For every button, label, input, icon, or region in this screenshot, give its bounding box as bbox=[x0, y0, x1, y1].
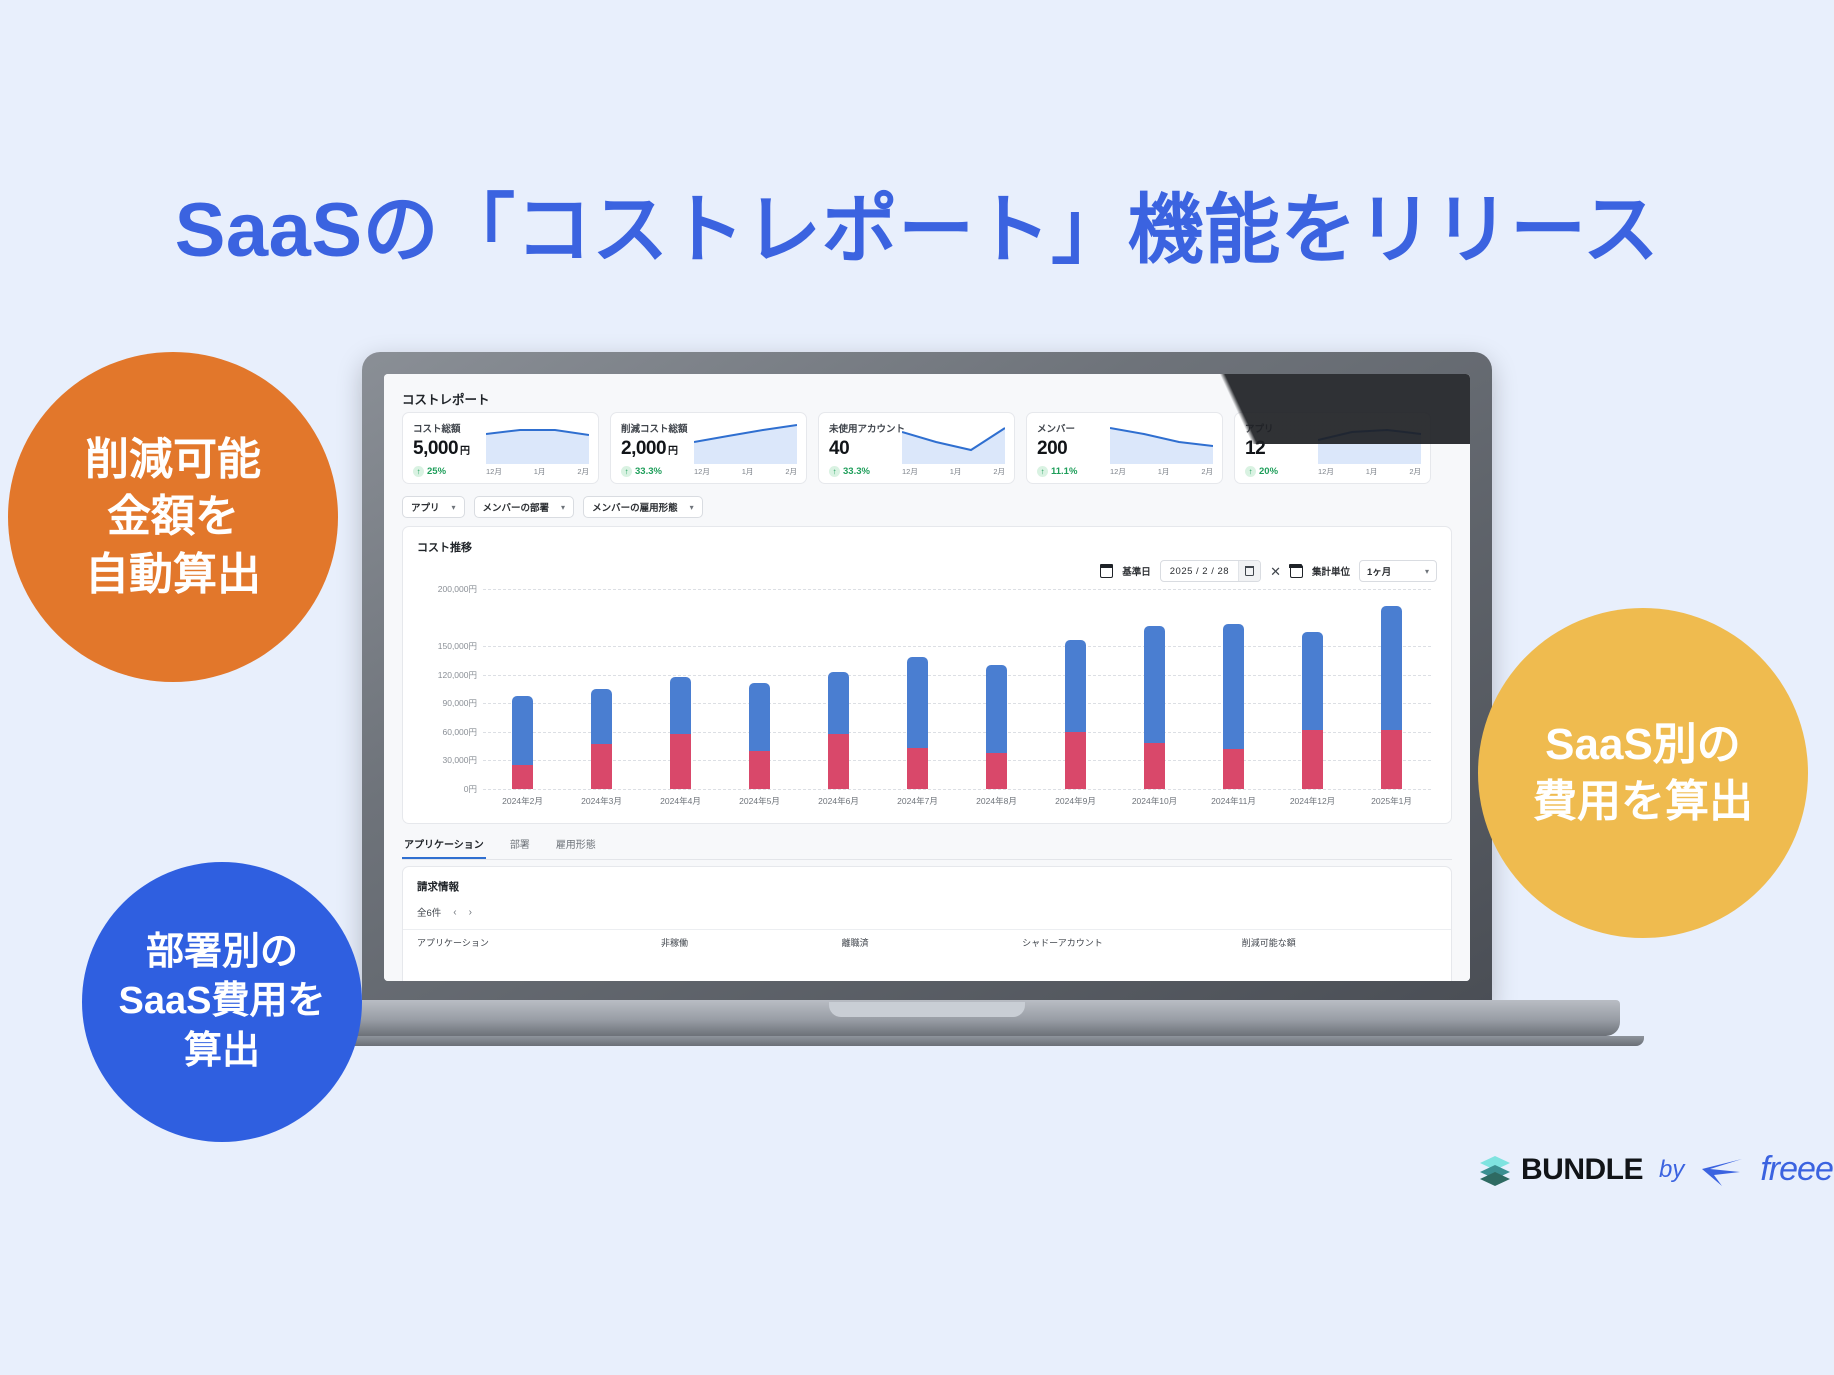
bundle-logo: BUNDLE bbox=[1478, 1153, 1643, 1187]
x-axis-tick-label: 2024年7月 bbox=[897, 795, 938, 807]
logo-by-text: by bbox=[1659, 1156, 1684, 1184]
bar-column[interactable]: 2024年8月 bbox=[957, 589, 1036, 789]
bar-segment-reducible bbox=[907, 748, 928, 789]
month-label: 1月 bbox=[950, 466, 962, 477]
y-axis-tick-label: 150,000円 bbox=[417, 640, 477, 652]
bar-column[interactable]: 2024年7月 bbox=[878, 589, 957, 789]
base-date-input[interactable]: 2025 / 2 / 28 bbox=[1160, 560, 1261, 582]
kpi-card[interactable]: アプリ 12 12月 1月 2月 bbox=[1234, 412, 1431, 484]
bar-column[interactable]: 2024年6月 bbox=[799, 589, 878, 789]
stacked-bar[interactable] bbox=[1144, 626, 1165, 789]
filter-label: アプリ bbox=[411, 500, 440, 514]
table-header-cell: シャドーアカウント bbox=[1022, 936, 1242, 949]
calendar-icon bbox=[1100, 565, 1113, 578]
month-label: 1月 bbox=[1366, 466, 1378, 477]
filter-row: アプリ ▾ メンバーの部署 ▾ メンバーの雇用形態 ▾ bbox=[402, 496, 703, 518]
base-date-value: 2025 / 2 / 28 bbox=[1161, 566, 1238, 577]
kpi-card-row: コスト総額 5,000円 12月 1月 2月 bbox=[402, 412, 1431, 484]
bar-segment-cost bbox=[1065, 640, 1086, 731]
month-label: 2月 bbox=[785, 466, 797, 477]
page-title: SaaSの「コストレポート」機能をリリース bbox=[0, 168, 1834, 278]
brand-logo-row: BUNDLE by freee bbox=[1478, 1150, 1833, 1189]
prev-page-button[interactable]: ‹ bbox=[453, 907, 456, 918]
calendar-icon bbox=[1290, 565, 1303, 578]
app-page-title: コストレポート bbox=[402, 389, 490, 408]
cost-trend-chart: 0円30,000円60,000円90,000円120,000円150,000円2… bbox=[417, 589, 1437, 811]
sparkline-chart bbox=[486, 422, 589, 464]
kpi-delta-group: ↑ 20% bbox=[1245, 466, 1278, 477]
callout-cost-reduction: 削減可能 金額を 自動算出 bbox=[8, 352, 338, 682]
kpi-delta: 11.1% bbox=[1051, 466, 1077, 477]
clear-date-button[interactable]: ✕ bbox=[1270, 565, 1281, 578]
bar-column[interactable]: 2025年1月 bbox=[1352, 589, 1431, 789]
laptop-screen: コストレポート コスト総額 5,000円 12月 bbox=[384, 374, 1470, 981]
table-header-row: アプリケーション 非稼働 離職済 シャドーアカウント 削減可能な額 bbox=[403, 929, 1451, 955]
bar-series-container: 2024年2月2024年3月2024年4月2024年5月2024年6月2024年… bbox=[483, 589, 1431, 789]
callout-line: SaaS別の bbox=[1545, 716, 1741, 773]
month-label: 12月 bbox=[902, 466, 918, 477]
chevron-down-icon: ▾ bbox=[1425, 567, 1429, 576]
aggregation-unit-label: 集計単位 bbox=[1312, 564, 1350, 578]
sparkline-month-labels: 12月 1月 2月 bbox=[486, 466, 589, 477]
slide-root: SaaSの「コストレポート」機能をリリース 削減可能 金額を 自動算出 コストレ… bbox=[0, 0, 1834, 1375]
calendar-small-icon bbox=[1245, 566, 1254, 576]
y-axis-tick-label: 60,000円 bbox=[417, 726, 477, 738]
x-axis-tick-label: 2024年10月 bbox=[1132, 795, 1177, 807]
stacked-bar[interactable] bbox=[1302, 632, 1323, 789]
table-header-cell: 離職済 bbox=[842, 936, 1023, 949]
callout-line: 自動算出 bbox=[85, 546, 261, 603]
bar-segment-cost bbox=[907, 657, 928, 748]
sparkline-month-labels: 12月 1月 2月 bbox=[694, 466, 797, 477]
bar-segment-cost bbox=[986, 665, 1007, 753]
aggregation-unit-select[interactable]: 1ヶ月 ▾ bbox=[1359, 560, 1437, 582]
kpi-delta: 20% bbox=[1259, 466, 1278, 477]
callout-line: 部署別の bbox=[146, 928, 298, 977]
kpi-delta-group: ↑ 11.1% bbox=[1037, 466, 1077, 477]
kpi-delta-group: ↑ 25% bbox=[413, 466, 446, 477]
chevron-down-icon: ▾ bbox=[690, 503, 694, 512]
sparkline-chart bbox=[1110, 422, 1213, 464]
chevron-down-icon: ▾ bbox=[561, 503, 565, 512]
bar-segment-cost bbox=[591, 689, 612, 744]
bar-segment-cost bbox=[1144, 626, 1165, 744]
x-axis-tick-label: 2025年1月 bbox=[1371, 795, 1412, 807]
callout-line: 費用を算出 bbox=[1533, 773, 1753, 830]
filter-label: メンバーの雇用形態 bbox=[592, 500, 678, 514]
filter-department-dropdown[interactable]: メンバーの部署 ▾ bbox=[474, 496, 575, 518]
month-label: 12月 bbox=[694, 466, 710, 477]
tab-department[interactable]: 部署 bbox=[508, 836, 532, 859]
kpi-unit: 円 bbox=[668, 446, 678, 457]
bar-segment-reducible bbox=[1223, 749, 1244, 789]
month-label: 12月 bbox=[486, 466, 502, 477]
callout-per-saas-cost: SaaS別の 費用を算出 bbox=[1478, 608, 1808, 938]
bundle-stack-icon bbox=[1478, 1153, 1512, 1187]
bar-column[interactable]: 2024年5月 bbox=[720, 589, 799, 789]
bar-segment-cost bbox=[1381, 606, 1402, 730]
arrow-up-icon: ↑ bbox=[1037, 466, 1048, 477]
detail-tabs: アプリケーション 部署 雇用形態 bbox=[402, 836, 1452, 860]
y-axis-tick-label: 30,000円 bbox=[417, 754, 477, 766]
chart-controls: 基準日 2025 / 2 / 28 ✕ 集計単位 1ヶ月 ▾ bbox=[1100, 560, 1437, 582]
bar-column[interactable]: 2024年9月 bbox=[1036, 589, 1115, 789]
callout-department-cost: 部署別の SaaS費用を 算出 bbox=[82, 862, 362, 1142]
month-label: 2月 bbox=[1409, 466, 1421, 477]
month-label: 1月 bbox=[742, 466, 754, 477]
stacked-bar[interactable] bbox=[1065, 640, 1086, 789]
bar-column[interactable]: 2024年10月 bbox=[1115, 589, 1194, 789]
cost-trend-panel: コスト推移 基準日 2025 / 2 / 28 ✕ 集計単位 bbox=[402, 526, 1452, 824]
y-axis-tick-label: 120,000円 bbox=[417, 669, 477, 681]
sparkline-month-labels: 12月 1月 2月 bbox=[1110, 466, 1213, 477]
bar-column[interactable]: 2024年12月 bbox=[1273, 589, 1352, 789]
month-label: 2月 bbox=[993, 466, 1005, 477]
x-axis-tick-label: 2024年4月 bbox=[660, 795, 701, 807]
y-axis-tick-label: 0円 bbox=[417, 783, 477, 795]
tab-application[interactable]: アプリケーション bbox=[402, 836, 486, 859]
bar-segment-reducible bbox=[591, 744, 612, 789]
table-count-label: 全6件 bbox=[417, 905, 441, 919]
bar-segment-reducible bbox=[749, 751, 770, 789]
bar-column[interactable]: 2024年2月 bbox=[483, 589, 562, 789]
freee-wordmark: freee bbox=[1760, 1150, 1833, 1189]
x-axis-tick-label: 2024年6月 bbox=[818, 795, 859, 807]
freee-bird-icon bbox=[1700, 1152, 1744, 1188]
stacked-bar[interactable] bbox=[670, 677, 691, 789]
next-page-button[interactable]: › bbox=[469, 907, 472, 918]
callout-line: 削減可能 bbox=[85, 431, 261, 488]
bar-segment-cost bbox=[512, 696, 533, 766]
kpi-unit: 円 bbox=[460, 446, 470, 457]
sparkline-chart bbox=[694, 422, 797, 464]
sparkline-chart bbox=[1318, 422, 1421, 464]
stacked-bar[interactable] bbox=[828, 672, 849, 789]
arrow-up-icon: ↑ bbox=[621, 466, 632, 477]
x-axis-tick-label: 2024年3月 bbox=[581, 795, 622, 807]
arrow-up-icon: ↑ bbox=[1245, 466, 1256, 477]
bar-column[interactable]: 2024年4月 bbox=[641, 589, 720, 789]
stacked-bar[interactable] bbox=[1223, 624, 1244, 789]
kpi-delta: 33.3% bbox=[843, 466, 870, 477]
kpi-delta: 33.3% bbox=[635, 466, 662, 477]
kpi-card[interactable]: 削減コスト総額 2,000円 12月 1月 2月 bbox=[610, 412, 807, 484]
x-axis-tick-label: 2024年2月 bbox=[502, 795, 543, 807]
callout-line: SaaS費用を bbox=[119, 977, 326, 1026]
sparkline-chart bbox=[902, 422, 1005, 464]
billing-info-panel: 請求情報 全6件 ‹ › アプリケーション 非稼働 離職済 シャドーアカウント … bbox=[402, 866, 1452, 981]
bar-segment-reducible bbox=[1144, 743, 1165, 789]
bar-segment-cost bbox=[1223, 624, 1244, 749]
kpi-delta-group: ↑ 33.3% bbox=[829, 466, 870, 477]
bar-segment-cost bbox=[749, 683, 770, 751]
bar-segment-reducible bbox=[1381, 730, 1402, 789]
callout-line: 算出 bbox=[184, 1027, 260, 1076]
stacked-bar[interactable] bbox=[986, 665, 1007, 789]
bar-segment-reducible bbox=[986, 753, 1007, 789]
bar-segment-cost bbox=[1302, 632, 1323, 730]
laptop-body: コストレポート コスト総額 5,000円 12月 bbox=[362, 352, 1492, 1007]
bar-segment-reducible bbox=[1302, 730, 1323, 789]
stacked-bar[interactable] bbox=[591, 689, 612, 789]
stacked-bar[interactable] bbox=[749, 683, 770, 789]
filter-label: メンバーの部署 bbox=[483, 500, 550, 514]
callout-line: 金額を bbox=[107, 488, 239, 545]
month-label: 12月 bbox=[1318, 466, 1334, 477]
arrow-up-icon: ↑ bbox=[829, 466, 840, 477]
base-date-label: 基準日 bbox=[1122, 564, 1151, 578]
filter-employment-type-dropdown[interactable]: メンバーの雇用形態 ▾ bbox=[583, 496, 703, 518]
stacked-bar[interactable] bbox=[907, 657, 928, 789]
bar-segment-cost bbox=[670, 677, 691, 734]
table-pager: 全6件 ‹ › bbox=[417, 905, 472, 919]
date-picker-button[interactable] bbox=[1238, 561, 1260, 581]
x-axis-tick-label: 2024年5月 bbox=[739, 795, 780, 807]
bar-segment-reducible bbox=[1065, 732, 1086, 789]
filter-app-dropdown[interactable]: アプリ ▾ bbox=[402, 496, 465, 518]
sparkline-month-labels: 12月 1月 2月 bbox=[1318, 466, 1421, 477]
x-axis-tick-label: 2024年8月 bbox=[976, 795, 1017, 807]
table-header-cell: アプリケーション bbox=[417, 936, 661, 949]
aggregation-unit-value: 1ヶ月 bbox=[1367, 564, 1391, 578]
y-axis-tick-label: 200,000円 bbox=[417, 583, 477, 595]
table-title: 請求情報 bbox=[417, 879, 459, 894]
bar-segment-reducible bbox=[512, 765, 533, 789]
table-header-cell: 非稼働 bbox=[661, 936, 842, 949]
bar-column[interactable]: 2024年11月 bbox=[1194, 589, 1273, 789]
laptop-foot bbox=[210, 1036, 1644, 1046]
x-axis-tick-label: 2024年12月 bbox=[1290, 795, 1335, 807]
cost-report-app: コストレポート コスト総額 5,000円 12月 bbox=[384, 374, 1470, 981]
table-header-cell: 削減可能な額 bbox=[1242, 936, 1437, 949]
laptop-notch bbox=[829, 1002, 1025, 1017]
month-label: 1月 bbox=[534, 466, 546, 477]
kpi-delta: 25% bbox=[427, 466, 446, 477]
month-label: 2月 bbox=[1201, 466, 1213, 477]
sparkline-month-labels: 12月 1月 2月 bbox=[902, 466, 1005, 477]
month-label: 2月 bbox=[577, 466, 589, 477]
month-label: 1月 bbox=[1158, 466, 1170, 477]
gridline bbox=[483, 789, 1431, 790]
bar-segment-reducible bbox=[828, 734, 849, 789]
bar-segment-reducible bbox=[670, 734, 691, 789]
bundle-wordmark: BUNDLE bbox=[1521, 1153, 1643, 1187]
kpi-card[interactable]: メンバー 200 12月 1月 2月 bbox=[1026, 412, 1223, 484]
kpi-card[interactable]: コスト総額 5,000円 12月 1月 2月 bbox=[402, 412, 599, 484]
x-axis-tick-label: 2024年11月 bbox=[1211, 795, 1256, 807]
kpi-delta-group: ↑ 33.3% bbox=[621, 466, 662, 477]
tab-employment-type[interactable]: 雇用形態 bbox=[554, 836, 598, 859]
stacked-bar[interactable] bbox=[1381, 606, 1402, 789]
chart-title: コスト推移 bbox=[417, 539, 472, 555]
kpi-card[interactable]: 未使用アカウント 40 12月 1月 2月 bbox=[818, 412, 1015, 484]
bar-segment-cost bbox=[828, 672, 849, 734]
bar-column[interactable]: 2024年3月 bbox=[562, 589, 641, 789]
month-label: 12月 bbox=[1110, 466, 1126, 477]
y-axis-tick-label: 90,000円 bbox=[417, 697, 477, 709]
stacked-bar[interactable] bbox=[512, 696, 533, 789]
arrow-up-icon: ↑ bbox=[413, 466, 424, 477]
x-axis-tick-label: 2024年9月 bbox=[1055, 795, 1096, 807]
chevron-down-icon: ▾ bbox=[452, 503, 456, 512]
laptop-mockup: コストレポート コスト総額 5,000円 12月 bbox=[362, 352, 1492, 1007]
